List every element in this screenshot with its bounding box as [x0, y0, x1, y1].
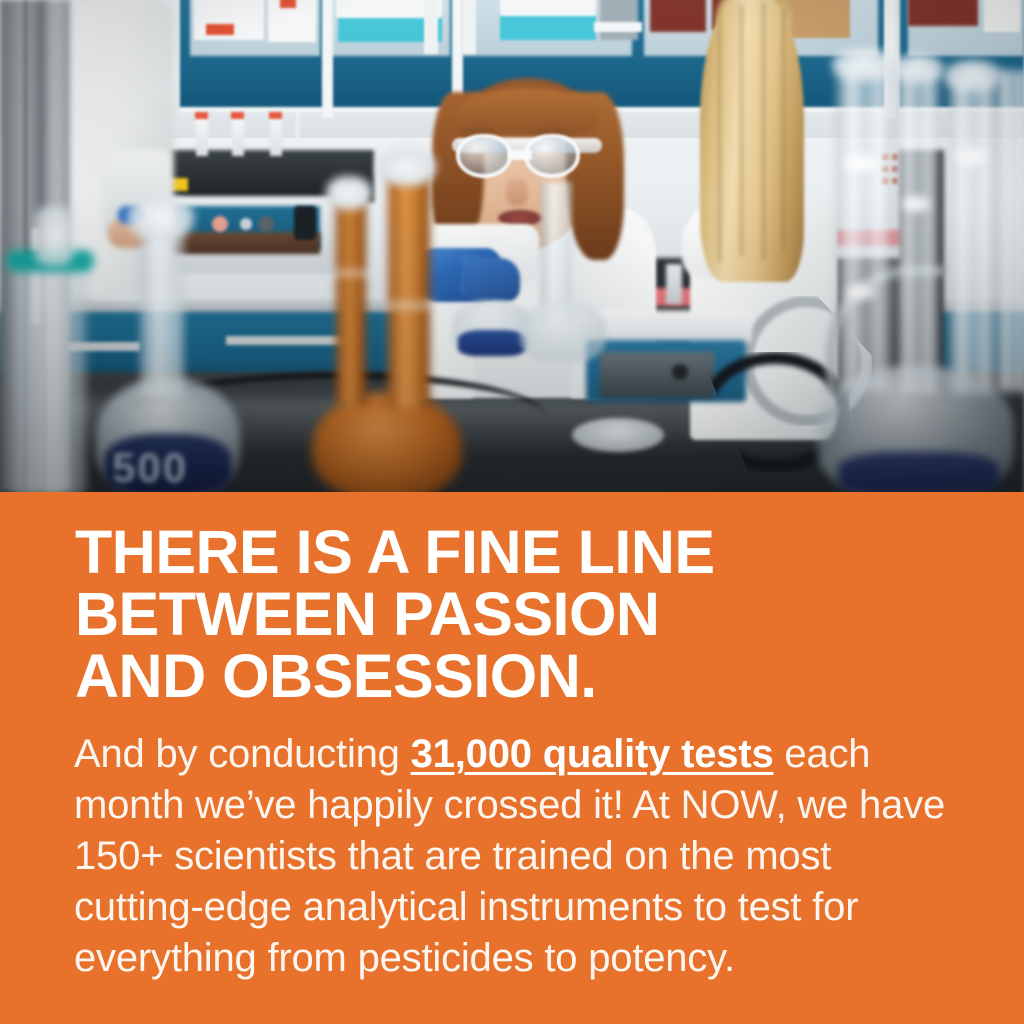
body-before: And by conducting: [74, 732, 411, 776]
social-media-poster: 500 THERE IS A FINE LINE BETWEEN PASSION…: [0, 0, 1024, 1024]
body-copy: And by conducting 31,000 quality tests e…: [74, 729, 954, 984]
photo-vignette: [0, 0, 1024, 492]
headline: THERE IS A FINE LINE BETWEEN PASSION AND…: [75, 521, 975, 707]
lab-photo: 500: [0, 0, 1024, 492]
body-highlight-stat: 31,000 quality tests: [411, 732, 774, 776]
text-panel: THERE IS A FINE LINE BETWEEN PASSION AND…: [0, 492, 1024, 1024]
